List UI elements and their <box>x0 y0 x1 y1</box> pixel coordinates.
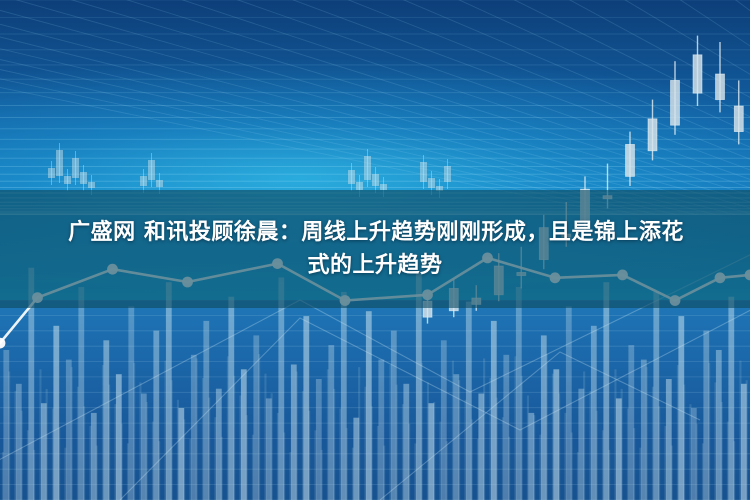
headline-container: 广盛网 和讯投顾徐晨：周线上升趋势刚刚形成，且是锦上添花 式的上升趋势 <box>0 190 750 308</box>
headline-line-2: 式的上升趋势 <box>307 252 442 280</box>
headline-line-1: 广盛网 和讯投顾徐晨：周线上升趋势刚刚形成，且是锦上添花 <box>66 219 684 247</box>
stock-market-banner-image: 广盛网 和讯投顾徐晨：周线上升趋势刚刚形成，且是锦上添花 式的上升趋势 <box>0 0 750 500</box>
